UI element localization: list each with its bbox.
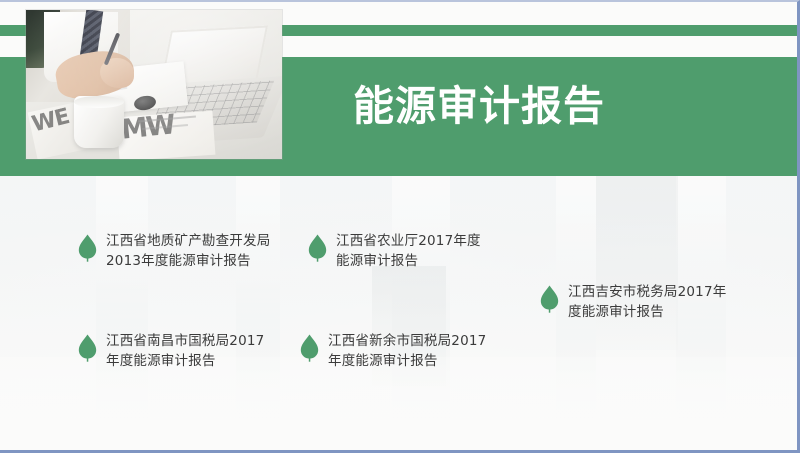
list-item-label: 江西吉安市税务局2017年度能源审计报告 xyxy=(568,283,730,322)
list-item[interactable]: 江西省南昌市国税局2017年度能源审计报告 xyxy=(78,332,278,371)
slide-canvas: WE MW 能源审计报告 江西省地质矿产勘查开发局2013年度能源审计报告 江西… xyxy=(0,0,800,453)
list-item[interactable]: 江西省新余市国税局2017年度能源审计报告 xyxy=(300,332,495,371)
list-item-label: 江西省南昌市国税局2017年度能源审计报告 xyxy=(106,332,278,371)
list-item-label: 江西省农业厅2017年度能源审计报告 xyxy=(336,232,488,271)
leaf-icon xyxy=(300,334,319,362)
list-item[interactable]: 江西省农业厅2017年度能源审计报告 xyxy=(308,232,488,271)
leaf-icon xyxy=(308,234,327,262)
list-item-label: 江西省地质矿产勘查开发局2013年度能源审计报告 xyxy=(106,232,278,271)
list-item[interactable]: 江西省地质矿产勘查开发局2013年度能源审计报告 xyxy=(78,232,278,271)
leaf-icon xyxy=(78,234,97,262)
report-list: 江西省地质矿产勘查开发局2013年度能源审计报告 江西省农业厅2017年度能源审… xyxy=(0,2,797,450)
list-item[interactable]: 江西吉安市税务局2017年度能源审计报告 xyxy=(540,283,730,322)
list-item-label: 江西省新余市国税局2017年度能源审计报告 xyxy=(328,332,495,371)
leaf-icon xyxy=(540,285,559,313)
leaf-icon xyxy=(78,334,97,362)
